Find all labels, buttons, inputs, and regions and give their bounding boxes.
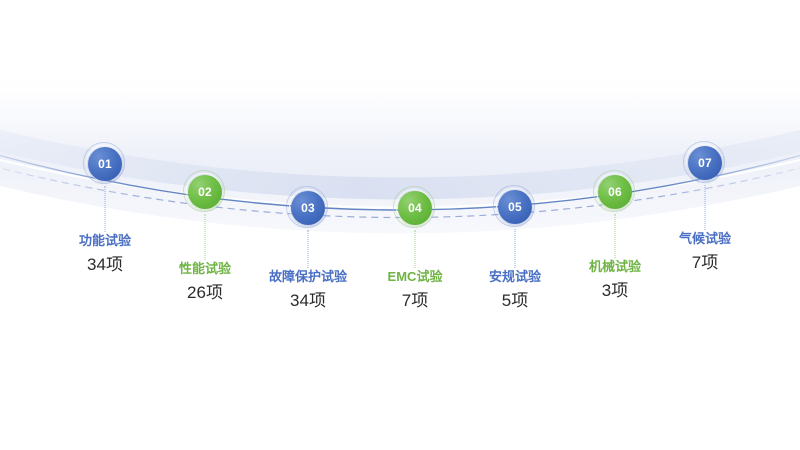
node-caption-02: 性能试验26项 [179,260,231,308]
node-drop-line [105,186,106,232]
node-marker-label: 02 [188,175,222,209]
node-caption-04: EMC试验7项 [388,268,443,316]
node-drop-line [308,230,309,268]
node-drop-line [705,185,706,230]
caption-title: 性能试验 [179,260,231,278]
timeline-node-04[interactable]: 04 [393,186,437,230]
timeline-node-03[interactable]: 03 [286,186,330,230]
caption-count: 5项 [489,286,541,316]
node-marker-label: 03 [291,191,325,225]
caption-title: 气候试验 [679,230,731,248]
caption-title: 故障保护试验 [269,268,347,286]
node-drop-line [205,214,206,260]
node-caption-05: 安规试验5项 [489,268,541,316]
infographic-canvas: 01020304050607 功能试验34项性能试验26项故障保护试验34项EM… [0,0,800,450]
node-drop-line [515,229,516,268]
node-marker-label: 01 [88,147,122,181]
caption-title: 机械试验 [589,258,641,276]
timeline-node-07[interactable]: 07 [683,141,727,185]
node-drop-line [415,230,416,268]
caption-title: 功能试验 [79,232,131,250]
caption-count: 34项 [79,250,131,280]
node-marker-label: 04 [398,191,432,225]
caption-title: EMC试验 [388,268,443,286]
caption-count: 3项 [589,276,641,306]
node-caption-07: 气候试验7项 [679,230,731,278]
node-marker-label: 06 [598,175,632,209]
node-marker-label: 05 [498,190,532,224]
caption-count: 7项 [388,286,443,316]
node-caption-01: 功能试验34项 [79,232,131,280]
caption-title: 安规试验 [489,268,541,286]
timeline-node-01[interactable]: 01 [83,142,127,186]
caption-count: 7项 [679,248,731,278]
caption-count: 26项 [179,278,231,308]
node-marker-label: 07 [688,146,722,180]
node-caption-03: 故障保护试验34项 [269,268,347,316]
caption-count: 34项 [269,286,347,316]
timeline-node-05[interactable]: 05 [493,185,537,229]
timeline-node-02[interactable]: 02 [183,170,227,214]
timeline-node-06[interactable]: 06 [593,170,637,214]
node-caption-06: 机械试验3项 [589,258,641,306]
node-drop-line [615,214,616,258]
